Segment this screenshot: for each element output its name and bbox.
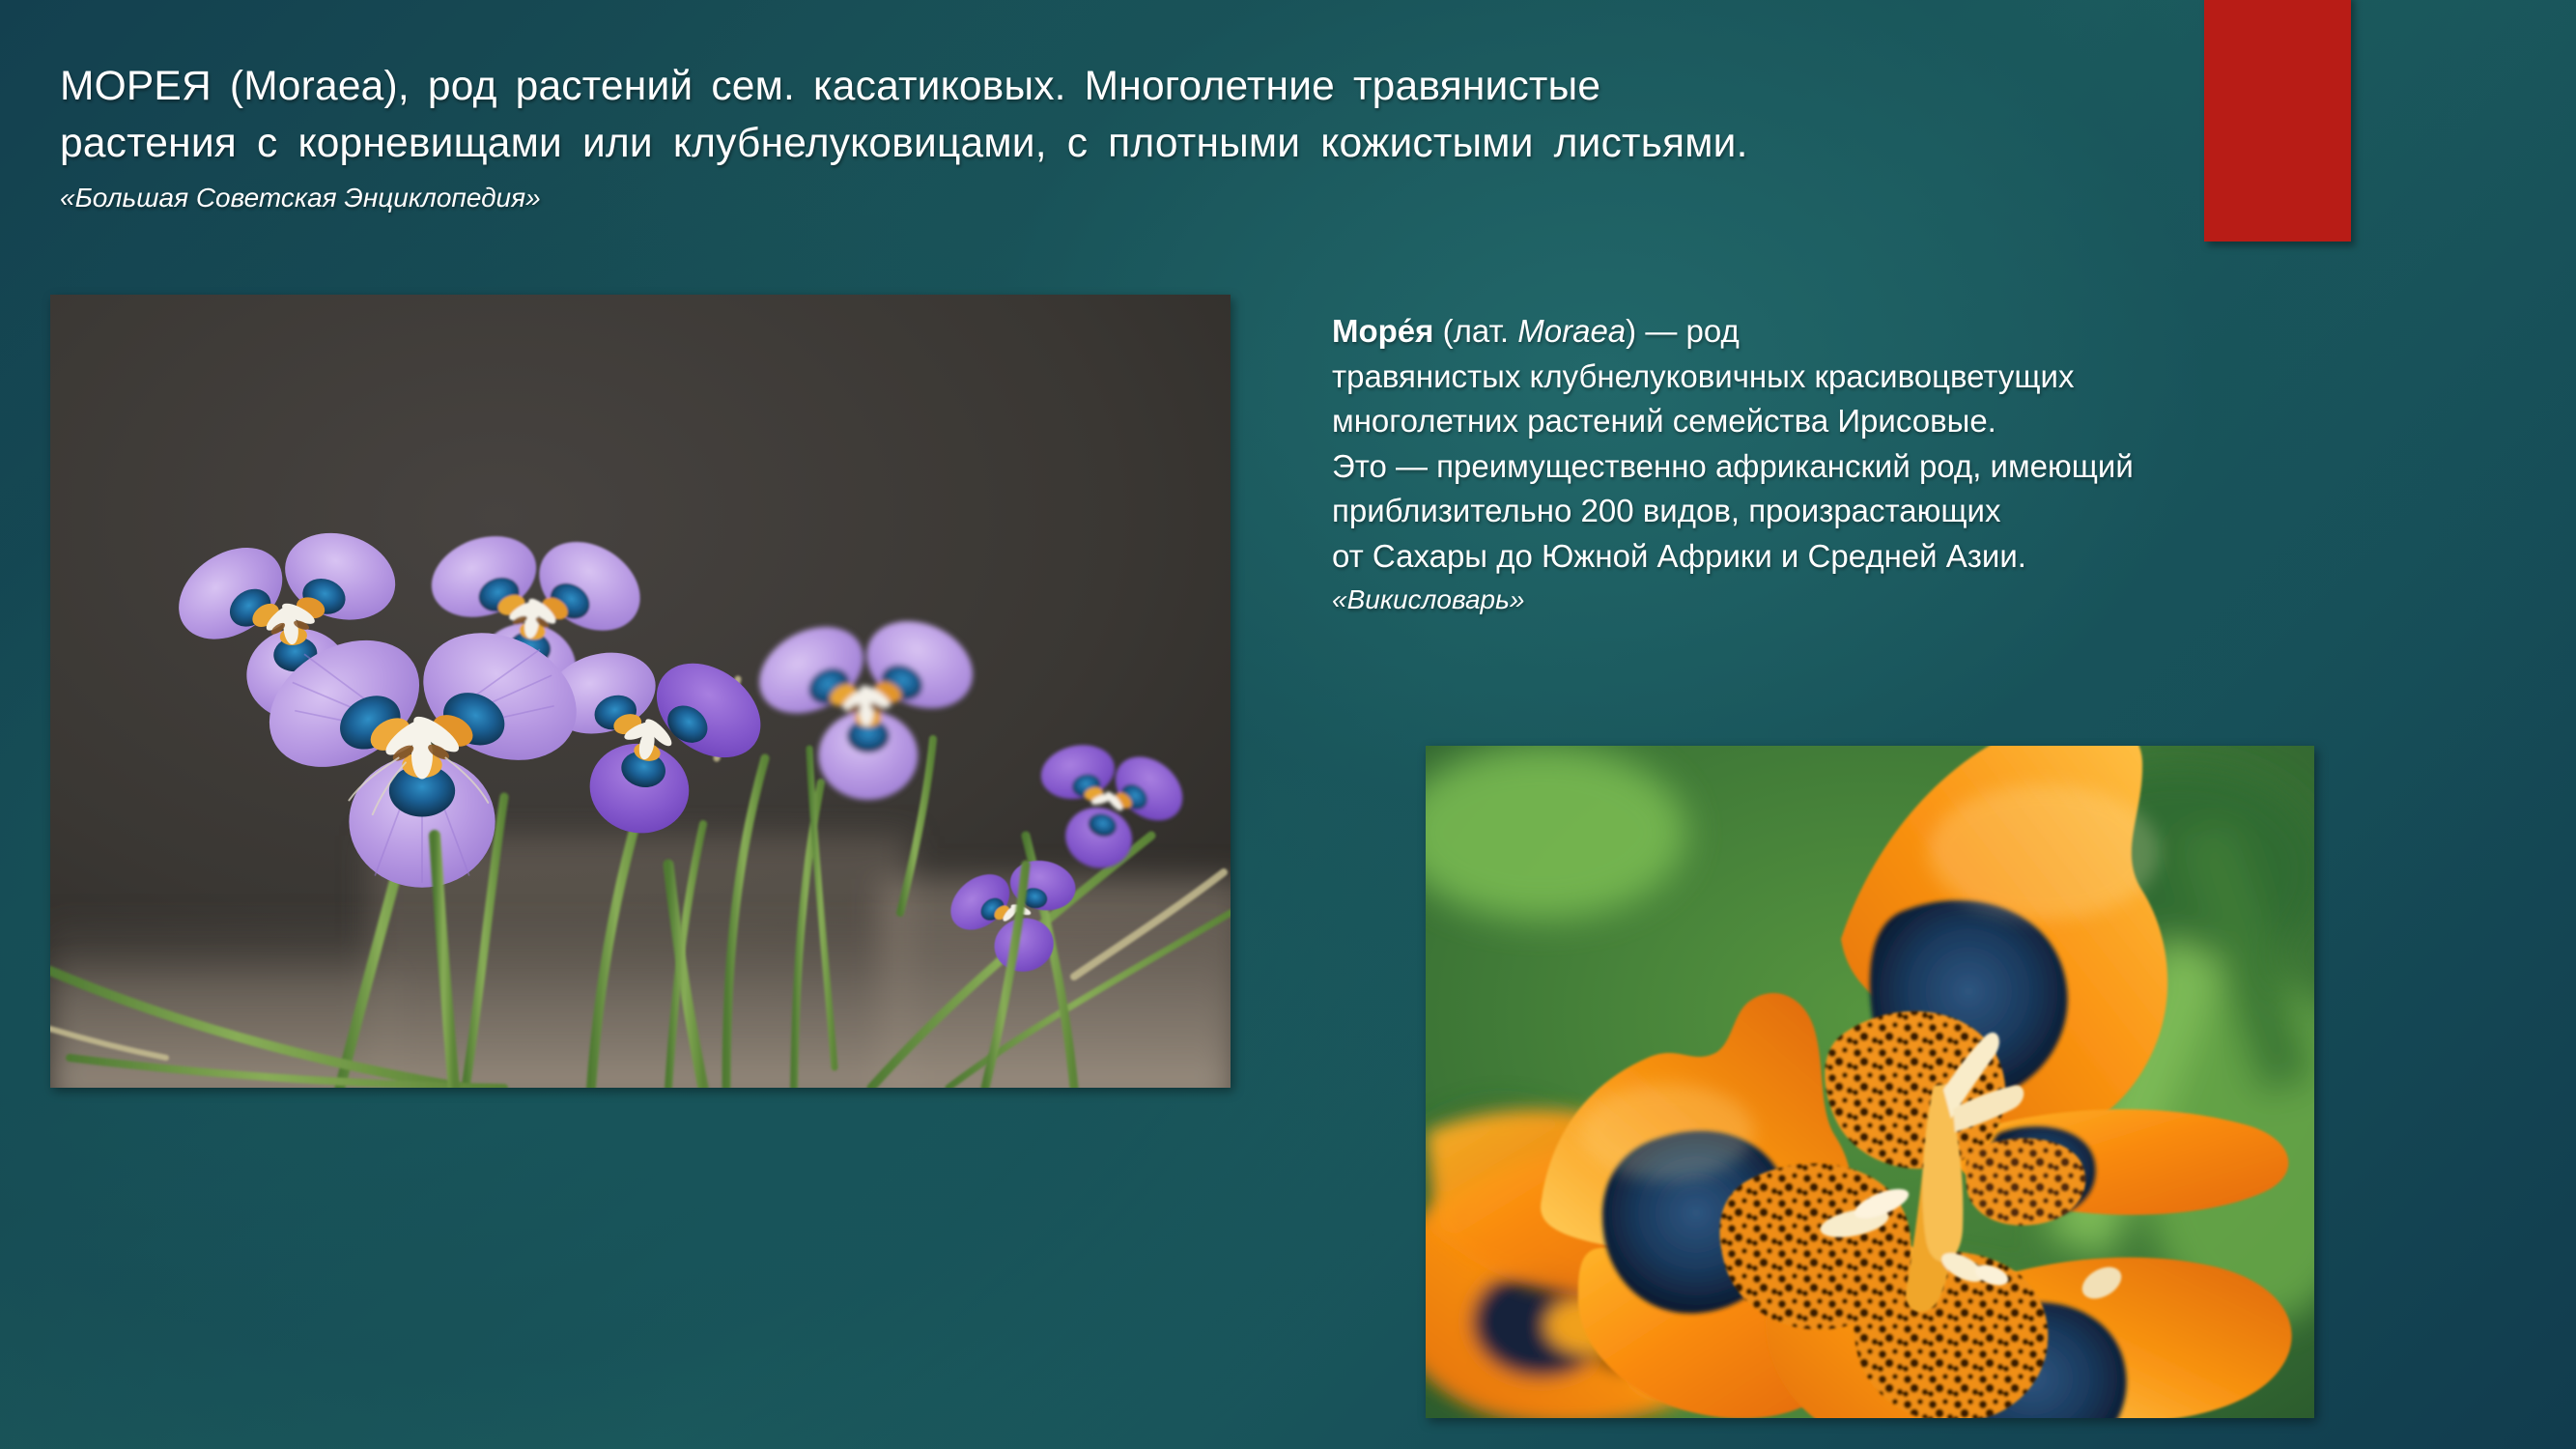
header-line-2: растения с корневищами или клубнелуковиц… xyxy=(60,115,2108,172)
orange-moraea-illustration xyxy=(1426,746,2314,1418)
genus-latin-suffix: ) — род xyxy=(1626,313,1740,349)
genus-latin-prefix: (лат. xyxy=(1433,313,1517,349)
header-source-citation: «Большая Советская Энциклопедия» xyxy=(60,180,541,216)
header-text-block: МОРЕЯ (Moraea), род растений сем. касати… xyxy=(60,58,2108,172)
purple-moraea-photo xyxy=(50,295,1231,1088)
right-line-1: Море́я (лат. Moraea) — род xyxy=(1332,309,2559,355)
orange-moraea-photo xyxy=(1426,746,2314,1418)
right-source-citation: «Викисловарь» xyxy=(1332,581,2559,619)
purple-moraea-illustration xyxy=(50,295,1231,1088)
right-line-6: от Сахары до Южной Африки и Средней Азии… xyxy=(1332,534,2559,580)
genus-name-bold: Море́я xyxy=(1332,313,1433,349)
right-line-2: травянистых клубнелуковичных красивоцвет… xyxy=(1332,355,2559,400)
slide-canvas: МОРЕЯ (Moraea), род растений сем. касати… xyxy=(0,0,2576,1449)
right-line-4: Это — преимущественно африканский род, и… xyxy=(1332,444,2559,490)
genus-latin-italic: Moraea xyxy=(1517,313,1626,349)
red-accent-block xyxy=(2204,0,2351,241)
header-line-1: МОРЕЯ (Moraea), род растений сем. касати… xyxy=(60,58,2108,115)
right-text-block: Море́я (лат. Moraea) — род травянистых к… xyxy=(1332,309,2559,619)
right-line-3: многолетних растений семейства Ирисовые. xyxy=(1332,399,2559,444)
right-line-5: приблизительно 200 видов, произрастающих xyxy=(1332,489,2559,534)
